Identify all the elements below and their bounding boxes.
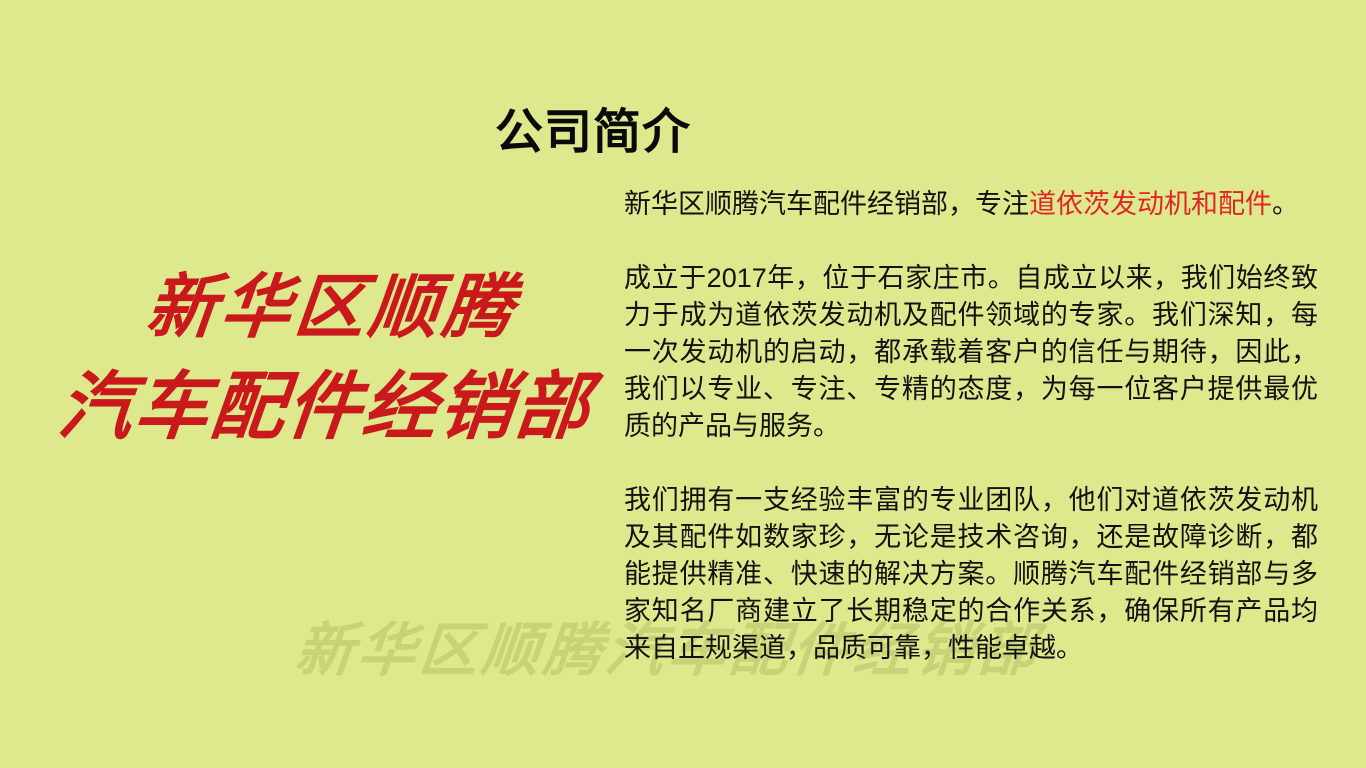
logo-line-2: 汽车配件经销部 (36, 370, 614, 444)
paragraph-history: 成立于2017年，位于石家庄市。自成立以来，我们始终致力于成为道依茨发动机及配件… (624, 260, 1318, 445)
highlighted-keyword: 道依茨发动机和配件 (1029, 189, 1272, 219)
page-title: 公司简介 (0, 104, 1186, 162)
slide-canvas: 公司简介 新华区顺腾 汽车配件经销部 新华区顺腾汽车配件经销部 新华区顺腾汽车配… (0, 0, 1366, 768)
paragraph-team: 我们拥有一支经验丰富的专业团队，他们对道依茨发动机及其配件如数家珍，无论是技术咨… (624, 482, 1318, 667)
text-run: 成立于2017年，位于石家庄市。自成立以来，我们始终致力于成为道依茨发动机及配件… (624, 263, 1318, 441)
company-logo: 新华区顺腾 汽车配件经销部 (40, 272, 610, 444)
paragraph-intro: 新华区顺腾汽车配件经销部，专注道依茨发动机和配件。 (624, 186, 1318, 223)
logo-line-1: 新华区顺腾 (36, 272, 613, 342)
text-run: 新华区顺腾汽车配件经销部，专注 (624, 189, 1029, 219)
company-description: 新华区顺腾汽车配件经销部，专注道依茨发动机和配件。成立于2017年，位于石家庄市… (624, 186, 1318, 667)
text-run: 我们拥有一支经验丰富的专业团队，他们对道依茨发动机及其配件如数家珍，无论是技术咨… (624, 485, 1318, 663)
text-run: 。 (1272, 189, 1299, 219)
